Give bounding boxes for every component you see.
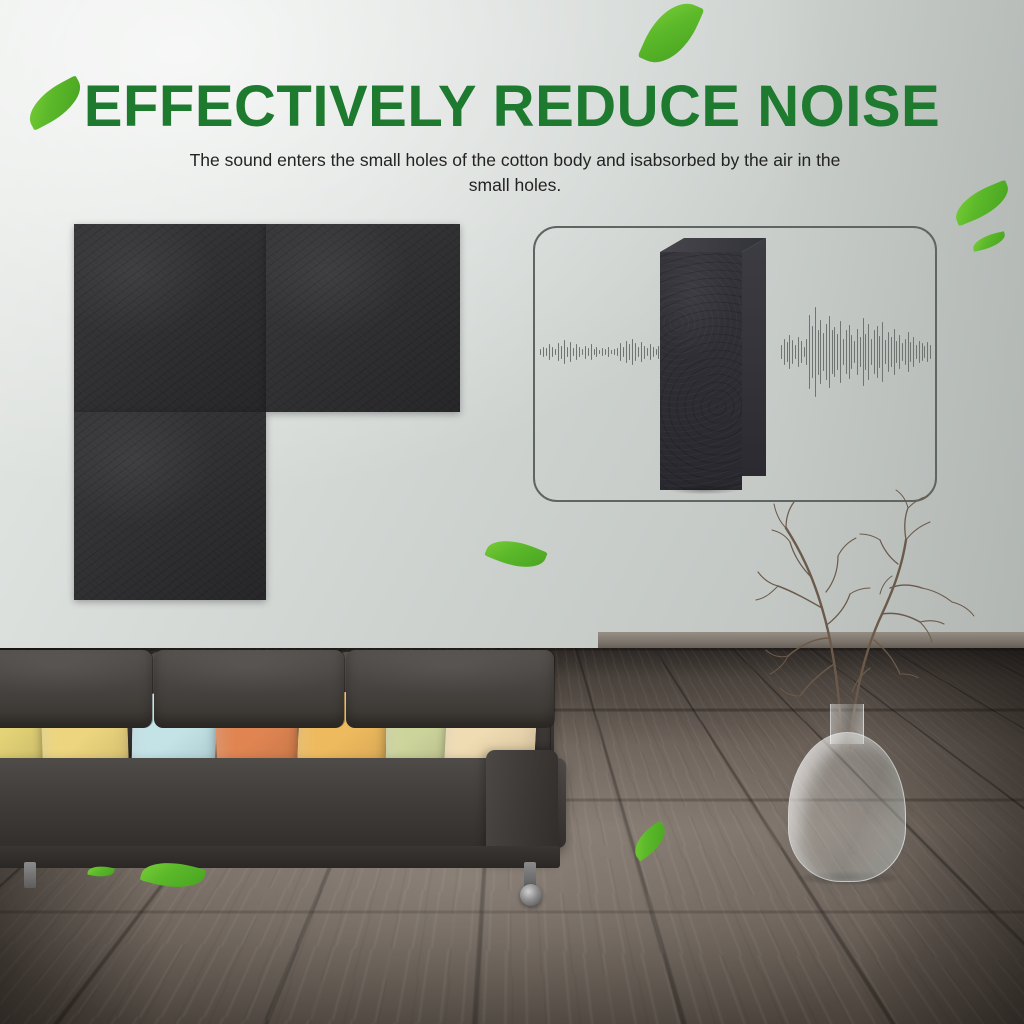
waveform-bar xyxy=(573,348,574,357)
waveform-bar xyxy=(653,347,654,358)
waveform-bar xyxy=(781,345,782,359)
page-subtitle: The sound enters the small holes of the … xyxy=(170,148,860,198)
waveform-bar xyxy=(916,345,917,359)
waveform-bar xyxy=(857,329,858,376)
waveform-bar xyxy=(620,343,621,360)
waveform-bar xyxy=(792,340,793,363)
panel-side-face xyxy=(742,238,766,476)
waveform-bar xyxy=(806,339,807,364)
acoustic-tile-bottom-left xyxy=(74,412,266,600)
waveform-bar xyxy=(594,349,595,356)
waveform-bar xyxy=(787,342,788,362)
waveform-bar xyxy=(874,330,875,373)
waveform-bar xyxy=(570,342,571,362)
waveform-bar xyxy=(617,348,618,357)
waveform-bar xyxy=(922,343,923,361)
waveform-bar xyxy=(919,341,920,363)
waveform-bar xyxy=(623,347,624,358)
waveform-bar xyxy=(798,337,799,366)
waveform-bar xyxy=(638,347,639,358)
waveform-bar xyxy=(608,347,609,358)
waveform-bar xyxy=(596,347,597,358)
panel-front-face xyxy=(660,252,742,490)
waveform-bar xyxy=(812,326,813,379)
sofa-frame-base xyxy=(0,846,560,868)
waveform-bar xyxy=(885,340,886,363)
waveform-bar xyxy=(656,349,657,356)
waveform-bar xyxy=(801,341,802,363)
waveform-bar xyxy=(868,324,869,381)
waveform-bar xyxy=(647,348,648,357)
waveform-bar xyxy=(626,341,627,363)
waveform-bar xyxy=(832,330,833,373)
waveform-bar xyxy=(913,337,914,366)
incident-sound-waveform xyxy=(781,306,931,398)
sofa-seat-cushion xyxy=(0,650,152,728)
waveform-bar xyxy=(795,345,796,359)
waveform-bar xyxy=(804,347,805,357)
waveform-bar xyxy=(905,339,906,364)
sofa-seat-cushion xyxy=(154,650,344,728)
waveform-bar xyxy=(924,346,925,358)
sofa-caster-wheel xyxy=(520,884,542,906)
waveform-bar xyxy=(588,348,589,357)
waveform-bar xyxy=(789,335,790,368)
waveform-bar xyxy=(561,346,562,359)
waveform-bar xyxy=(882,322,883,383)
waveform-bar xyxy=(552,347,553,358)
waveform-bar xyxy=(860,337,861,366)
vase-with-branches xyxy=(742,482,992,902)
waveform-bar xyxy=(834,327,835,378)
waveform-bar xyxy=(602,348,603,357)
product-feature-banner: EFFECTIVELY REDUCE NOISE The sound enter… xyxy=(0,0,1024,1024)
waveform-bar xyxy=(927,342,928,362)
waveform-bar xyxy=(632,339,633,365)
waveform-bar xyxy=(549,344,550,359)
waveform-bar xyxy=(809,315,810,389)
waveform-bar xyxy=(899,335,900,368)
waveform-bar xyxy=(910,342,911,362)
waveform-bar xyxy=(611,350,612,354)
waveform-bar xyxy=(820,320,821,385)
waveform-bar xyxy=(555,349,556,356)
waveform-bar xyxy=(614,349,615,356)
waveform-bar xyxy=(846,330,847,373)
waveform-bar xyxy=(837,334,838,369)
waveform-bar xyxy=(650,344,651,359)
waveform-bar xyxy=(579,347,580,358)
waveform-bar xyxy=(567,347,568,358)
waveform-bar xyxy=(854,341,855,363)
waveform-bar xyxy=(829,316,830,388)
waveform-bar xyxy=(635,343,636,360)
waveform-bar xyxy=(877,326,878,379)
waveform-bar xyxy=(851,335,852,368)
dried-branches xyxy=(742,468,992,768)
waveform-bar xyxy=(629,344,630,359)
waveform-bar xyxy=(641,342,642,362)
waveform-bar xyxy=(871,339,872,364)
waveform-bar xyxy=(818,330,819,375)
sofa xyxy=(0,646,598,898)
waveform-bar xyxy=(564,340,565,364)
waveform-bar xyxy=(815,307,816,397)
waveform-bar xyxy=(826,324,827,381)
acoustic-tile-top-right xyxy=(266,224,460,412)
waveform-bar xyxy=(599,350,600,354)
waveform-bar xyxy=(879,336,880,367)
waveform-bar xyxy=(540,349,541,356)
page-title: EFFECTIVELY REDUCE NOISE xyxy=(0,76,1024,138)
waveform-bar xyxy=(582,349,583,356)
waveform-bar xyxy=(865,334,866,369)
panel-drop-shadow xyxy=(656,484,752,496)
waveform-bar xyxy=(891,337,892,366)
waveform-bar xyxy=(930,345,931,359)
waveform-bar xyxy=(896,341,897,363)
waveform-bar xyxy=(605,349,606,356)
waveform-bar xyxy=(591,344,592,359)
sofa-leg xyxy=(24,862,36,888)
sofa-seat-cushion xyxy=(346,650,554,728)
waveform-bar xyxy=(543,347,544,358)
waveform-bar xyxy=(558,343,559,360)
waveform-bar xyxy=(888,332,889,371)
acoustic-panel-3d xyxy=(660,238,770,490)
waveform-bar xyxy=(843,339,844,364)
waveform-bar xyxy=(576,344,577,359)
waveform-bar xyxy=(863,318,864,386)
waveform-bar xyxy=(644,346,645,359)
waveform-bar xyxy=(849,325,850,380)
waveform-bar xyxy=(823,333,824,370)
waveform-bar xyxy=(784,339,785,364)
waveform-bar xyxy=(585,346,586,359)
waveform-bar xyxy=(546,348,547,357)
waveform-bar xyxy=(894,329,895,376)
waveform-bar xyxy=(908,332,909,371)
waveform-bar xyxy=(840,321,841,384)
waveform-bar xyxy=(902,343,903,361)
sofa-seat-base xyxy=(0,758,566,848)
acoustic-tile-top-left xyxy=(74,224,266,412)
